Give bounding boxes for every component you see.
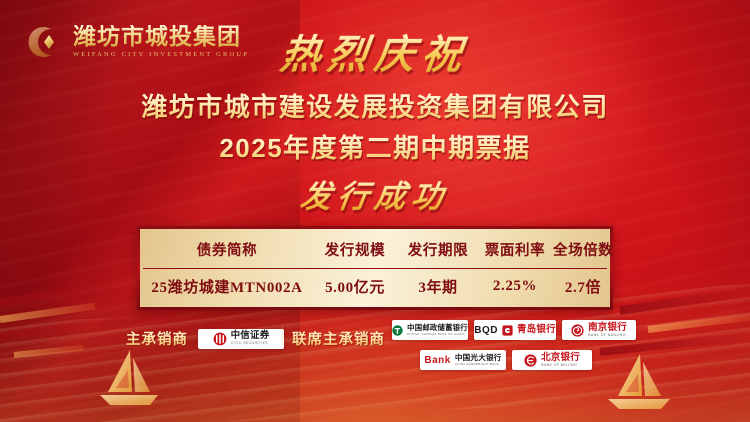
headline-block: 热烈庆祝 潍坊市城市建设发展投资集团有限公司 2025年度第二期中期票据 发行成… [0,0,750,253]
celebration-banner: 潍坊市城投集团 WEIFANG CITY INVESTMENT GROUP 热烈… [0,0,750,422]
postal-savings-emblem-icon [392,325,403,336]
bond-details-table: 债券简称 发行规模 发行期限 票面利率 全场倍数 25潍坊城建MTN002A 5… [137,226,613,310]
qingdao-bank-logo: BQD 青岛银行 [474,320,556,340]
company-name-headline: 潍坊市城市建设发展投资集团有限公司 [141,87,609,124]
nanjing-bank-rose-emblem-icon [571,324,584,337]
table-header-cell: 发行规模 [311,239,399,260]
citic-name-cn: 中信证券 [231,331,270,341]
everbright-bank-abbr: Bank [424,355,450,366]
table-row: 25潍坊城建MTN002A 5.00亿元 3年期 2.25% 2.7倍 [143,269,607,305]
citic-name-en: CITIC SECURITIES [231,342,269,346]
table-cell-coupon-rate: 2.25% [477,278,553,295]
sailboat-icon [92,348,164,410]
postal-savings-name-cn: 中国邮政储蓄银行 [407,324,468,331]
table-header-cell: 债券简称 [143,239,311,260]
table-cell-subscription-multiple: 2.7倍 [553,276,613,297]
joint-underwriter-label: 联席主承销商 [292,328,385,349]
underwriter-divider [282,324,283,350]
table-cell-term: 3年期 [399,276,477,297]
table-header-cell: 发行期限 [399,239,477,260]
joint-underwriter-logos-row-2: Bank 中国光大银行 CHINA EVERBRIGHT BANK 北京银行 B… [420,350,592,370]
everbright-name-cn: 中国光大银行 [455,354,502,362]
qingdao-bank-abbr: BQD [474,325,498,336]
qingdao-bank-name-cn: 青岛银行 [517,325,556,335]
success-headline: 发行成功 [298,171,452,216]
lead-underwriter-group: 主承销商 中信证券 CITIC SECURITIES [126,328,284,349]
citic-securities-logo: 中信证券 CITIC SECURITIES [198,329,284,349]
sailboat-icon [600,352,676,414]
table-header-row: 债券简称 发行规模 发行期限 票面利率 全场倍数 [143,232,607,269]
nanjing-bank-name-cn: 南京银行 [588,323,627,333]
everbright-name-en: CHINA EVERBRIGHT BANK [455,363,499,366]
everbright-bank-logo: Bank 中国光大银行 CHINA EVERBRIGHT BANK [420,350,506,370]
beijing-bank-logo: 北京银行 BANK OF BEIJING [512,350,592,370]
celebrate-headline: 热烈庆祝 [277,22,472,80]
table-cell-bond-name: 25潍坊城建MTN002A [143,276,311,297]
joint-underwriter-group: 联席主承销商 [292,328,385,349]
beijing-bank-name-en: BANK OF BEIJING [541,364,577,368]
postal-savings-bank-logo: 中国邮政储蓄银行 POSTAL SAVINGS BANK OF CHINA [392,320,468,340]
joint-underwriter-logos-row-1: 中国邮政储蓄银行 POSTAL SAVINGS BANK OF CHINA BQ… [392,320,636,340]
issue-name-headline: 2025年度第二期中期票据 [219,128,530,165]
qingdao-bank-emblem-icon [502,325,513,336]
beijing-bank-emblem-icon [524,354,537,367]
nanjing-bank-logo: 南京银行 BANK OF NANJING [562,320,636,340]
citic-circle-emblem-icon [213,332,227,346]
lead-underwriter-label: 主承销商 [126,328,188,349]
table-header-cell: 全场倍数 [553,239,613,260]
table-header-cell: 票面利率 [477,239,553,260]
postal-savings-name-en: POSTAL SAVINGS BANK OF CHINA [407,333,465,336]
table-cell-issue-size: 5.00亿元 [311,276,399,297]
beijing-bank-name-cn: 北京银行 [541,353,580,363]
nanjing-bank-name-en: BANK OF NANJING [588,334,626,338]
